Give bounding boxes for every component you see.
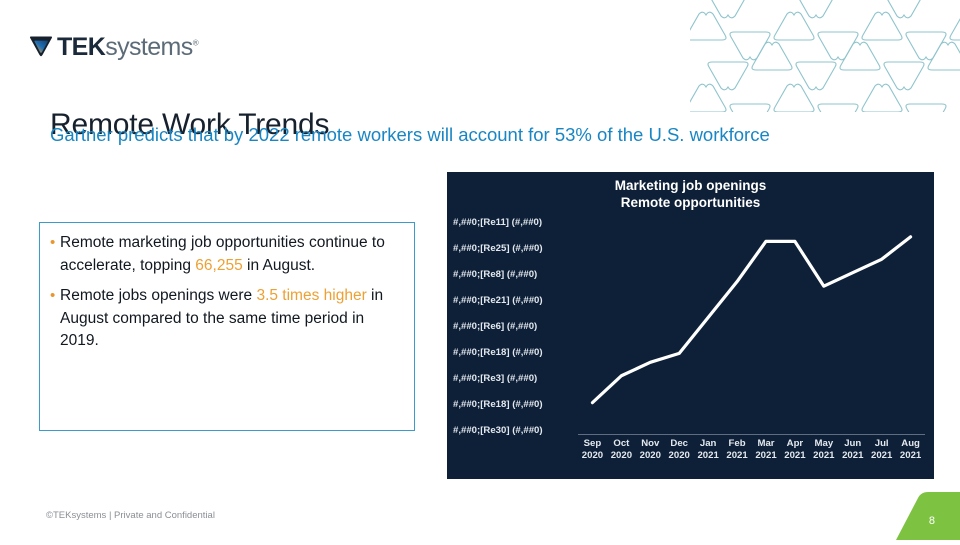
chart-x-tick-month: Jul: [867, 438, 896, 450]
chart-x-tick-label: Dec2020: [665, 438, 694, 461]
chart-x-tick-year: 2021: [694, 450, 723, 462]
bullet-segment: in August.: [243, 257, 315, 274]
chart-x-tick-year: 2021: [809, 450, 838, 462]
chart-x-tick-month: Apr: [780, 438, 809, 450]
decorative-triangle-pattern: [690, 0, 960, 112]
chart-y-tick-label: #,##0;[Re25] (#,##0): [453, 236, 578, 262]
chart-title-line-2: Remote opportunities: [447, 194, 934, 211]
chart-y-tick-label: #,##0;[Re21] (#,##0): [453, 288, 578, 314]
chart-x-tick-month: May: [809, 438, 838, 450]
chart-x-tick-month: Mar: [752, 438, 781, 450]
chart-x-tick-label: May2021: [809, 438, 838, 461]
chart-y-tick-label: #,##0;[Re11] (#,##0): [453, 210, 578, 236]
chart-x-tick-month: Nov: [636, 438, 665, 450]
chart-x-tick-label: Apr2021: [780, 438, 809, 461]
page-number: 8: [929, 515, 935, 527]
bullet-segment: Remote jobs openings were: [60, 287, 256, 304]
chart-y-axis-labels: #,##0;[Re11] (#,##0)#,##0;[Re25] (#,##0)…: [453, 210, 578, 444]
logo-trademark: ®: [193, 38, 198, 47]
chart-y-tick-label: #,##0;[Re18] (#,##0): [453, 392, 578, 418]
chart-x-tick-year: 2020: [578, 450, 607, 462]
chart-x-tick-month: Dec: [665, 438, 694, 450]
page-subtitle: Gartner predicts that by 2022 remote wor…: [50, 124, 770, 146]
chart-plot-area: [578, 210, 925, 434]
chart-x-tick-label: Mar2021: [752, 438, 781, 461]
chart-x-tick-label: Nov2020: [636, 438, 665, 461]
chart-y-tick-label: #,##0;[Re18] (#,##0): [453, 340, 578, 366]
bullet-text: Remote jobs openings were 3.5 times high…: [60, 285, 400, 353]
bullet-item: •Remote jobs openings were 3.5 times hig…: [50, 285, 400, 353]
chart-x-tick-year: 2020: [636, 450, 665, 462]
chart-x-tick-month: Jun: [838, 438, 867, 450]
chart-x-tick-month: Sep: [578, 438, 607, 450]
bullet-marker-icon: •: [50, 232, 60, 277]
chart-x-tick-month: Jan: [694, 438, 723, 450]
chart-series-line: [592, 237, 910, 403]
chart-x-axis-line: [578, 434, 925, 435]
chart-x-tick-year: 2021: [867, 450, 896, 462]
chart-x-tick-year: 2020: [665, 450, 694, 462]
chart-x-tick-year: 2021: [752, 450, 781, 462]
chart-x-tick-year: 2021: [723, 450, 752, 462]
key-findings-card: •Remote marketing job opportunities cont…: [39, 222, 415, 431]
chart-y-tick-label: #,##0;[Re8] (#,##0): [453, 262, 578, 288]
chart-x-axis-labels: Sep2020Oct2020Nov2020Dec2020Jan2021Feb20…: [578, 438, 925, 461]
chart-y-tick-label: #,##0;[Re6] (#,##0): [453, 314, 578, 340]
chart-x-tick-label: Sep2020: [578, 438, 607, 461]
teksystems-logo: TEKsystems®: [28, 31, 198, 61]
chart-title-line-1: Marketing job openings: [447, 177, 934, 194]
chart-x-tick-label: Oct2020: [607, 438, 636, 461]
bullet-highlight: 66,255: [195, 257, 242, 274]
chart-y-tick-label: #,##0;[Re3] (#,##0): [453, 366, 578, 392]
chart-x-tick-year: 2021: [780, 450, 809, 462]
footer-copyright: ©TEKsystems | Private and Confidential: [46, 510, 215, 521]
chart-x-tick-year: 2021: [896, 450, 925, 462]
chart-y-tick-label: #,##0;[Re30] (#,##0): [453, 418, 578, 444]
bullet-list: •Remote marketing job opportunities cont…: [50, 232, 400, 353]
logo-word-systems: systems: [105, 33, 192, 61]
chart-x-tick-label: Jun2021: [838, 438, 867, 461]
bullet-item: •Remote marketing job opportunities cont…: [50, 232, 400, 277]
teksystems-logo-icon: [28, 33, 54, 59]
page-number-badge: [870, 487, 960, 540]
chart-title: Marketing job openings Remote opportunit…: [447, 177, 934, 211]
chart-x-tick-month: Aug: [896, 438, 925, 450]
chart-x-tick-year: 2020: [607, 450, 636, 462]
chart-x-tick-label: Feb2021: [723, 438, 752, 461]
bullet-highlight: 3.5 times higher: [256, 287, 366, 304]
bullet-marker-icon: •: [50, 285, 60, 353]
chart-panel: Marketing job openings Remote opportunit…: [447, 172, 934, 479]
chart-x-tick-label: Aug2021: [896, 438, 925, 461]
logo-word-tek: TEK: [57, 33, 105, 61]
chart-x-tick-month: Feb: [723, 438, 752, 450]
logo-wordmark: TEKsystems®: [57, 35, 198, 60]
bullet-text: Remote marketing job opportunities conti…: [60, 232, 400, 277]
chart-x-tick-year: 2021: [838, 450, 867, 462]
chart-x-tick-month: Oct: [607, 438, 636, 450]
chart-x-tick-label: Jul2021: [867, 438, 896, 461]
chart-x-tick-label: Jan2021: [694, 438, 723, 461]
